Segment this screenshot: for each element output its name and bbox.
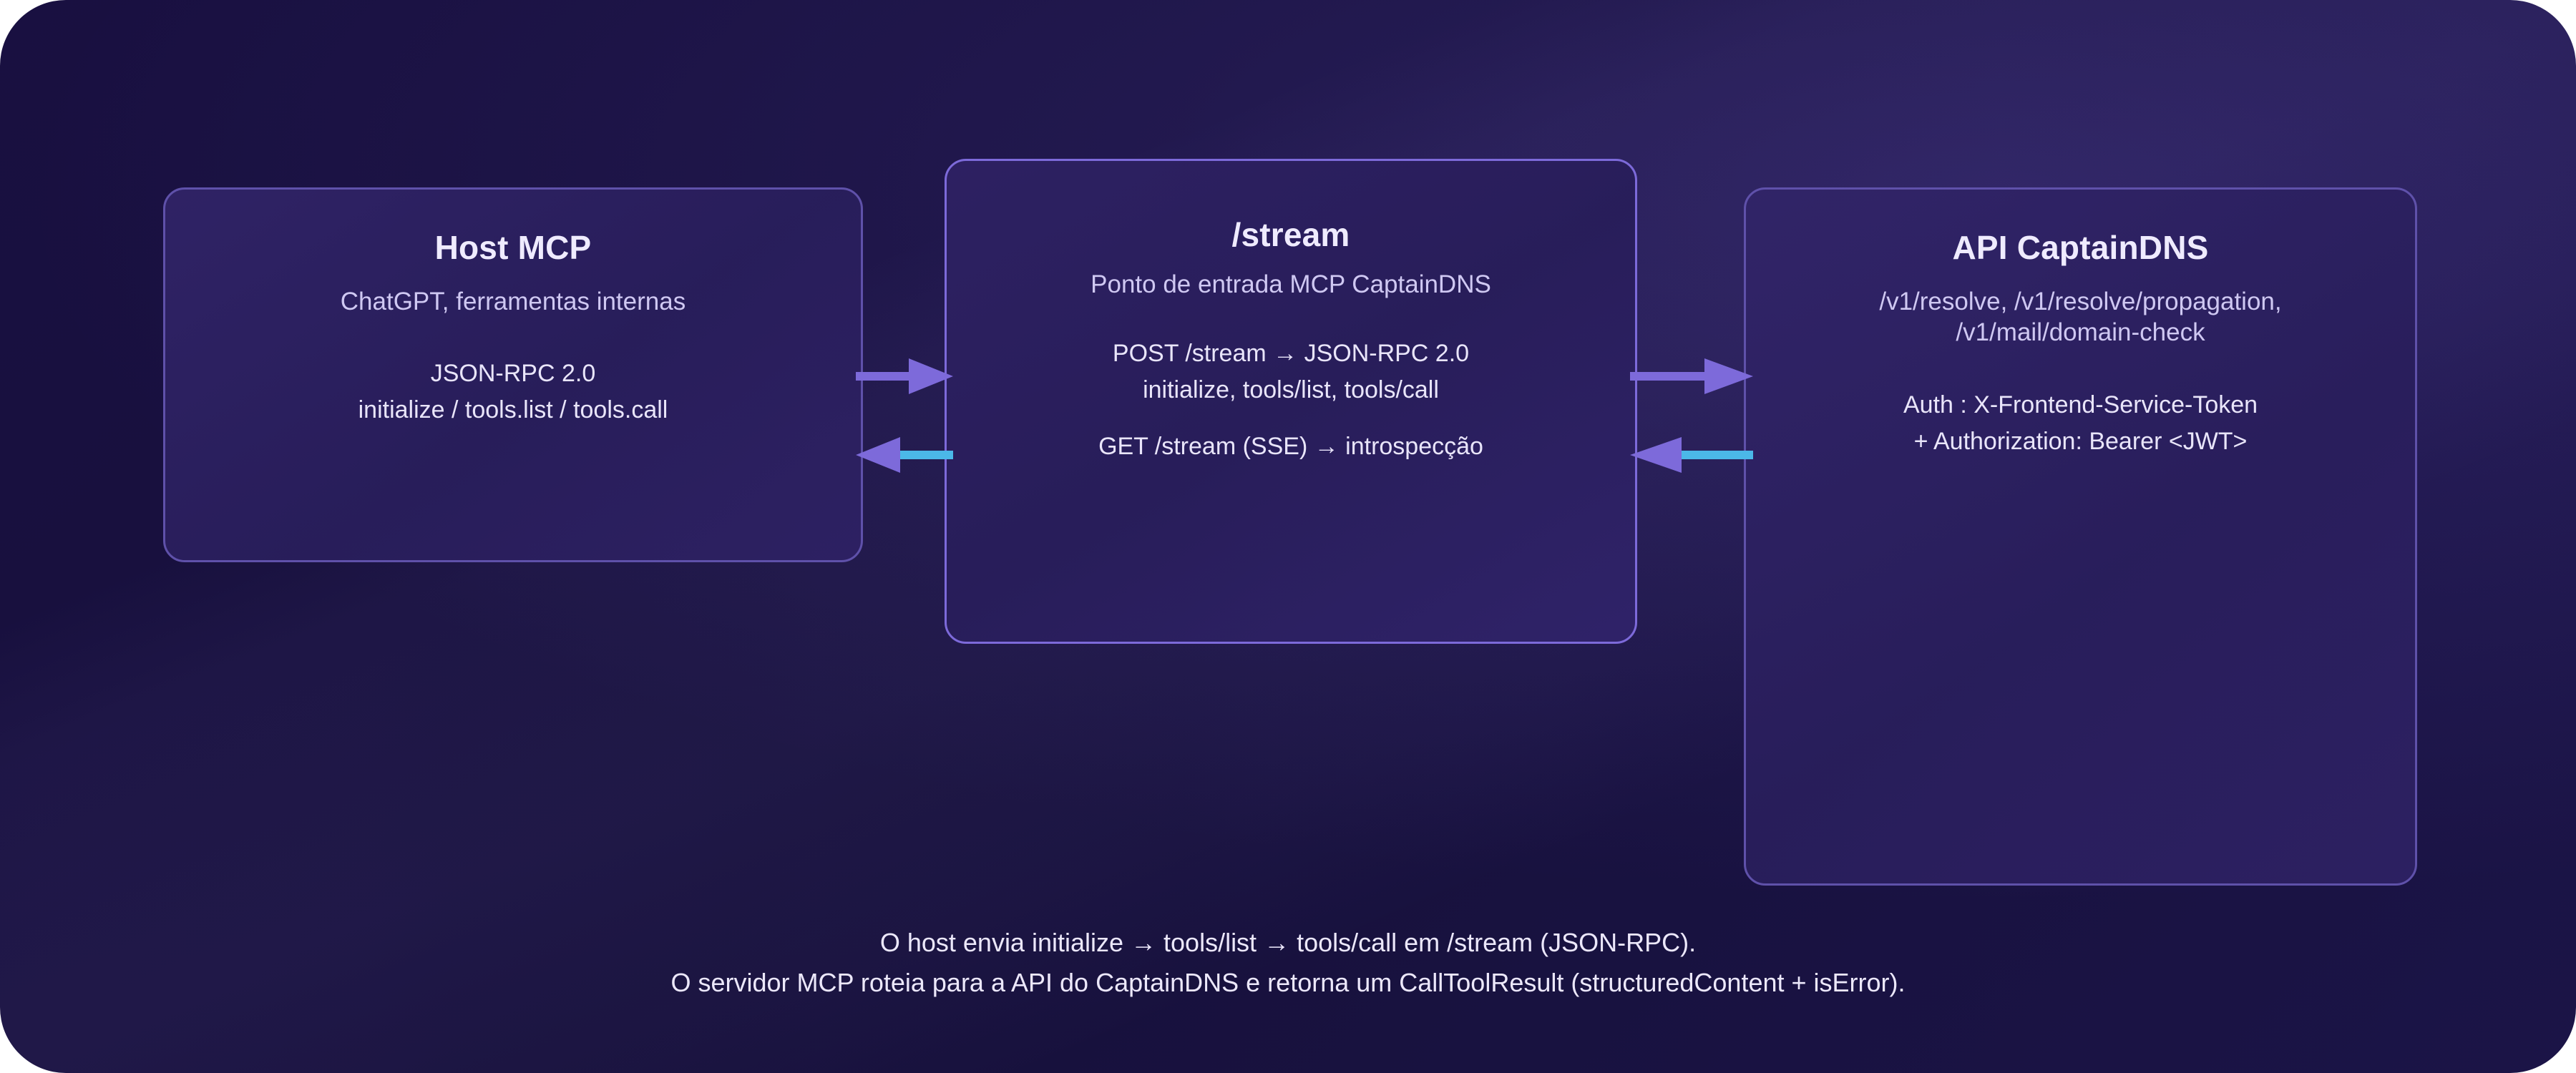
node-api-captaindns-body: Auth : X-Frontend-Service-Token + Author… — [1903, 387, 2258, 460]
node-api-captaindns-body-line-1: Auth : X-Frontend-Service-Token — [1903, 387, 2258, 423]
node-host-mcp: Host MCP ChatGPT, ferramentas internas J… — [163, 187, 863, 562]
node-stream-endpoint-subtitle: Ponto de entrada MCP CaptainDNS — [1091, 269, 1491, 300]
node-api-captaindns-body-line-2: + Authorization: Bearer <JWT> — [1903, 423, 2258, 460]
node-host-mcp-body-line-1: JSON-RPC 2.0 — [358, 356, 668, 392]
arrow-left-icon-stream-to-host — [856, 428, 953, 481]
node-stream-endpoint-body: POST /stream → JSON-RPC 2.0 initialize, … — [1098, 335, 1483, 465]
node-host-mcp-subtitle: ChatGPT, ferramentas internas — [341, 286, 686, 318]
node-host-mcp-body: JSON-RPC 2.0 initialize / tools.list / t… — [358, 356, 668, 428]
arrow-right-icon-host-to-stream — [856, 350, 953, 403]
node-api-captaindns-subtitle: /v1/resolve, /v1/resolve/propagation, /v… — [1879, 286, 2281, 349]
node-stream-endpoint-body-line-3: GET /stream (SSE) → introspecção — [1098, 428, 1483, 465]
diagram-caption-line-2: O servidor MCP roteia para a API do Capt… — [0, 963, 2576, 1003]
diagram-caption: O host envia initialize → tools/list → t… — [0, 923, 2576, 1003]
diagram-canvas: Host MCP ChatGPT, ferramentas internas J… — [0, 0, 2576, 1073]
node-api-captaindns-subtitle-line-2: /v1/mail/domain-check — [1879, 317, 2281, 348]
node-stream-endpoint-body-line-2: initialize, tools/list, tools/call — [1098, 372, 1483, 408]
body-spacer — [1098, 408, 1483, 428]
node-host-mcp-title: Host MCP — [435, 230, 592, 266]
node-stream-endpoint: /stream Ponto de entrada MCP CaptainDNS … — [945, 159, 1637, 644]
arrow-right-icon-stream-to-api — [1630, 350, 1753, 403]
node-stream-endpoint-body-line-1: POST /stream → JSON-RPC 2.0 — [1098, 335, 1483, 372]
arrow-left-icon-api-to-stream — [1630, 428, 1753, 481]
diagram-caption-line-1: O host envia initialize → tools/list → t… — [0, 923, 2576, 963]
node-host-mcp-body-line-2: initialize / tools.list / tools.call — [358, 392, 668, 428]
node-stream-endpoint-title: /stream — [1231, 217, 1350, 253]
node-api-captaindns-subtitle-line-1: /v1/resolve, /v1/resolve/propagation, — [1879, 286, 2281, 318]
node-api-captaindns-title: API CaptainDNS — [1952, 230, 2208, 266]
node-api-captaindns: API CaptainDNS /v1/resolve, /v1/resolve/… — [1744, 187, 2417, 886]
